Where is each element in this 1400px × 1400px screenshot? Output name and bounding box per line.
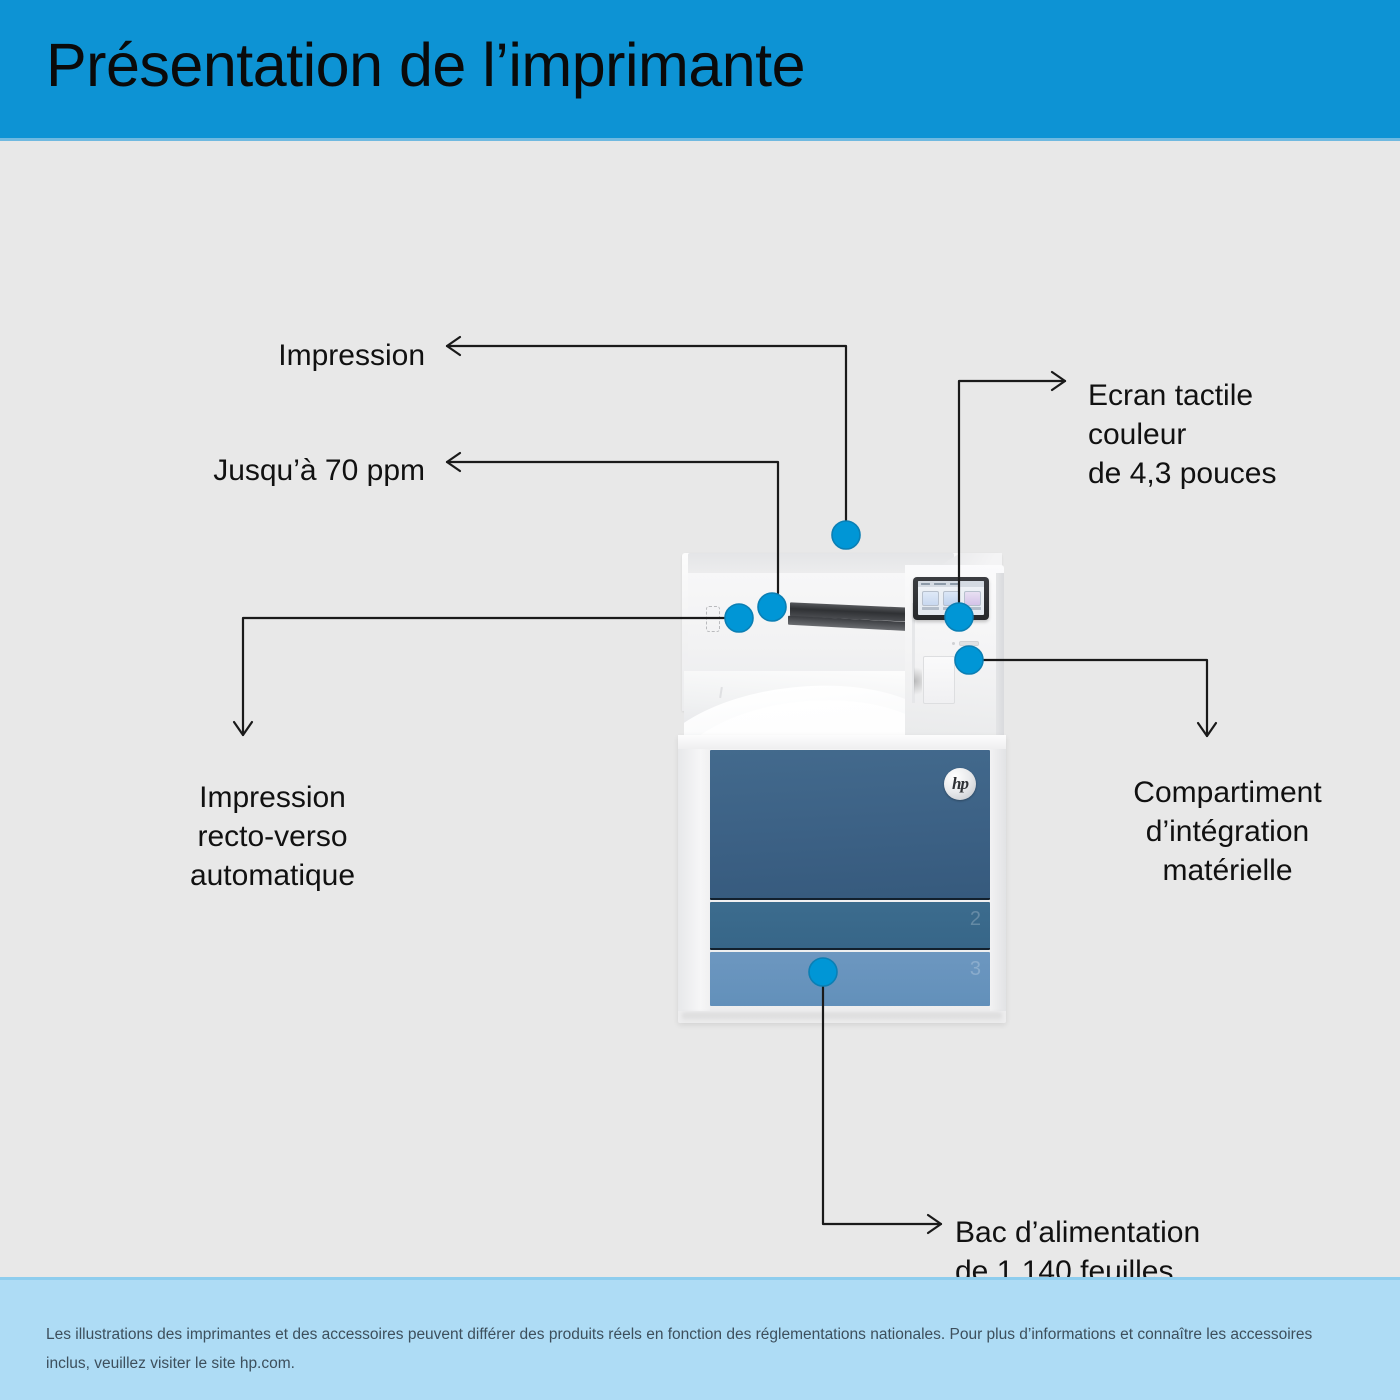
paper-drawer-2[interactable]: 2 <box>710 902 990 950</box>
printer-right-edge <box>996 573 1004 743</box>
printer-overview-infographic: Présentation de l’imprimante <box>0 0 1400 1400</box>
printer-illustration: hp 2 3 <box>660 543 1020 1023</box>
footer-disclaimer: Les illustrations des imprimantes et des… <box>0 1277 1400 1400</box>
touchscreen-app-tiles <box>922 591 981 606</box>
touchscreen-tile-apps[interactable] <box>964 591 981 606</box>
drawer-number-2: 2 <box>970 908 981 931</box>
callout-label-duplex: Impression recto-verso automatique <box>75 778 470 895</box>
touchscreen-display[interactable] <box>918 581 984 615</box>
header-banner: Présentation de l’imprimante <box>0 0 1400 138</box>
paper-drawer-3[interactable]: 3 <box>710 952 990 1006</box>
hardware-integration-bay <box>923 656 955 704</box>
hp-logo: hp <box>944 768 976 800</box>
footer-disclaimer-text: Les illustrations des imprimantes et des… <box>46 1320 1356 1378</box>
usb-port <box>959 641 979 646</box>
touchscreen-status-bar <box>918 581 984 587</box>
printer-base-side-right <box>990 749 1006 1011</box>
printer-badge-slot <box>706 606 720 632</box>
hp-logo-text: hp <box>944 768 976 800</box>
callout-label-impression: Impression <box>120 336 425 375</box>
callout-label-hardware-bay: Compartiment d’intégration matérielle <box>1070 773 1385 890</box>
touchscreen-tile-copy[interactable] <box>922 591 939 606</box>
page-title: Présentation de l’imprimante <box>46 30 805 100</box>
status-led <box>952 642 955 645</box>
printer-base-side-left <box>678 749 710 1011</box>
callout-label-touchscreen: Ecran tactile couleur de 4,3 pouces <box>1088 376 1388 493</box>
diagram-stage: hp 2 3 <box>0 141 1400 1277</box>
drawer-number-3: 3 <box>970 958 981 981</box>
paper-drawer-1[interactable]: hp <box>710 750 990 900</box>
printer-seam-shadow <box>914 663 922 699</box>
touchscreen-tile-scan[interactable] <box>943 591 960 606</box>
printer-output-tray <box>684 671 920 743</box>
callout-label-ppm: Jusqu’à 70 ppm <box>100 451 425 490</box>
printer-ground-shadow <box>682 1013 1002 1022</box>
printer-base-lip <box>678 735 1006 749</box>
